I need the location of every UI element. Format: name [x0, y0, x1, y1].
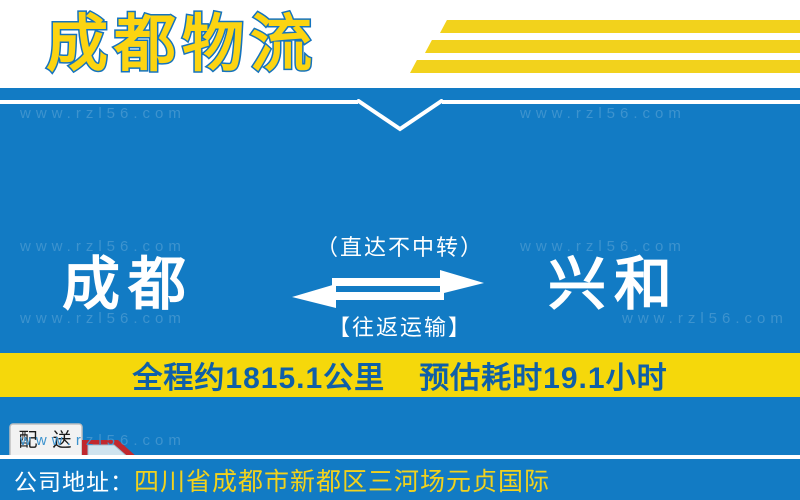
destination-city: 兴和: [548, 256, 680, 314]
duration-value: 预估耗时19.1小时: [419, 362, 667, 395]
watermark: www.rzl56.com: [622, 310, 788, 327]
main-blue-panel: www.rzl56.com www.rzl56.com 成都 兴和 （直达不中转…: [0, 88, 800, 455]
watermark: www.rzl56.com: [20, 310, 186, 327]
decor-stripe-3: [410, 60, 800, 73]
page-title: 成都物流: [46, 2, 318, 88]
address-bar: 公司地址： 四川省成都市新都区三河场元贞国际: [0, 459, 800, 500]
rule-line-right: [442, 100, 800, 104]
logistics-banner: 成都物流 www.rzl56.com www.rzl56.com 成都 兴和 （…: [0, 0, 800, 500]
distance-value: 全程约1815.1公里: [132, 362, 385, 395]
watermark: www.rzl56.com: [20, 105, 186, 122]
decor-stripe-2: [425, 40, 800, 53]
address-value: 四川省成都市新都区三河场元贞国际: [134, 462, 550, 498]
chevron-down-icon: [355, 99, 445, 133]
decor-stripe-1: [440, 20, 800, 33]
watermark: www.rzl56.com: [520, 238, 686, 255]
watermark: www.rzl56.com: [20, 432, 186, 449]
double-arrow-icon: [288, 268, 488, 310]
rule-line-left: [0, 100, 358, 104]
address-label: 公司地址：: [14, 463, 134, 497]
watermark: www.rzl56.com: [520, 105, 686, 122]
watermark: www.rzl56.com: [20, 238, 186, 255]
stats-bar: 全程约1815.1公里预估耗时19.1小时: [0, 353, 800, 397]
header-strip: 成都物流: [0, 0, 800, 88]
stats-line: 全程约1815.1公里预估耗时19.1小时: [132, 353, 667, 397]
origin-city: 成都: [62, 256, 194, 314]
